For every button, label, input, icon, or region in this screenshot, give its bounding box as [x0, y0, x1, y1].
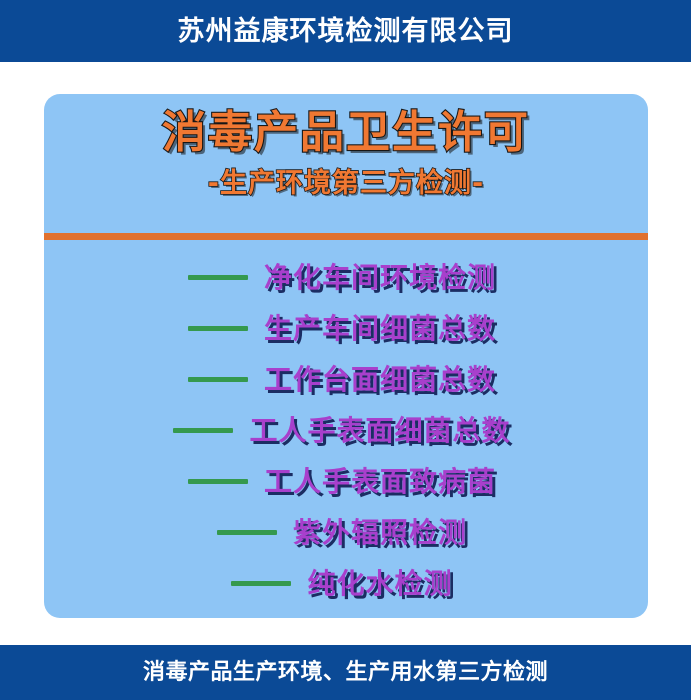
list-item: 净化车间环境检测: [44, 252, 648, 303]
top-banner: 苏州益康环境检测有限公司: [0, 0, 691, 62]
list-item: 纯化水检测: [44, 558, 648, 609]
dash-icon: [188, 275, 248, 280]
company-name: 苏州益康环境检测有限公司: [178, 18, 514, 45]
list-item: 工人手表面细菌总数: [44, 405, 648, 456]
service-label: 纯化水检测: [307, 570, 452, 598]
tagline: 消毒产品生产环境、生产用水第三方检测: [143, 662, 548, 684]
dash-icon: [188, 326, 248, 331]
list-item: 工作台面细菌总数: [44, 354, 648, 405]
service-label: 工人手表面细菌总数: [249, 417, 510, 445]
service-label: 生产车间细菌总数: [264, 315, 496, 343]
dash-icon: [173, 428, 233, 433]
service-label: 净化车间环境检测: [264, 264, 496, 292]
promo-card: 消毒产品卫生许可 -生产环境第三方检测- 净化车间环境检测 生产车间细菌总数 工…: [44, 94, 648, 618]
service-list: 净化车间环境检测 生产车间细菌总数 工作台面细菌总数 工人手表面细菌总数 工人手…: [44, 252, 648, 609]
card-header: 消毒产品卫生许可 -生产环境第三方检测-: [44, 94, 648, 199]
bottom-banner: 消毒产品生产环境、生产用水第三方检测: [0, 645, 691, 700]
dash-icon: [188, 377, 248, 382]
list-item: 工人手表面致病菌: [44, 456, 648, 507]
dash-icon: [188, 479, 248, 484]
service-label: 紫外辐照检测: [293, 519, 467, 547]
dash-icon: [217, 530, 277, 535]
headline: 消毒产品卫生许可: [44, 94, 648, 159]
list-item: 生产车间细菌总数: [44, 303, 648, 354]
list-item: 紫外辐照检测: [44, 507, 648, 558]
dash-icon: [231, 581, 291, 586]
service-label: 工人手表面致病菌: [264, 468, 496, 496]
subheadline: -生产环境第三方检测-: [44, 159, 648, 199]
orange-divider: [44, 233, 648, 240]
service-label: 工作台面细菌总数: [264, 366, 496, 394]
